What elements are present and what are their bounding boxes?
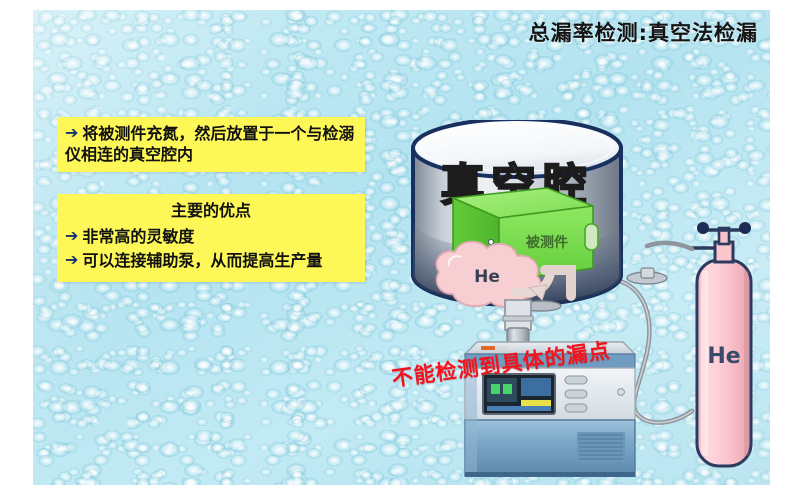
connecting-tube [503, 300, 533, 344]
advantage-text-2: 可以连接辅助泵，从而提高生产量 [82, 251, 322, 270]
arrow-right-icon: ➔ [65, 249, 78, 270]
callout-method: ➔将被测件充氮，然后放置于一个与检溺仪相连的真空腔内 [57, 117, 365, 172]
list-item: ➔可以连接辅助泵，从而提高生产量 [65, 250, 357, 271]
slide-canvas: 总漏率检测:真空法检漏 [0, 0, 800, 500]
list-item: ➔非常高的灵敏度 [65, 226, 357, 247]
detector-vent-grille [577, 432, 625, 462]
vacuum-leak-test-illustration: 真空腔 被测件 He [395, 120, 795, 480]
cylinder-label: He [707, 344, 740, 369]
detector-indicator [618, 389, 625, 396]
cylinder-valve-knob-right [739, 222, 751, 234]
arrow-right-icon: ➔ [65, 122, 78, 143]
callout-advantages: 主要的优点 ➔非常高的灵敏度 ➔可以连接辅助泵，从而提高生产量 [57, 194, 365, 282]
detector-button-3 [565, 404, 587, 412]
detector-button-2 [565, 390, 587, 398]
gas-cloud-label: He [474, 267, 500, 287]
specimen-label: 被测件 [526, 234, 568, 251]
cylinder-valve-knob-left [697, 222, 709, 234]
detector-button-1 [565, 376, 587, 384]
advantage-text-1: 非常高的灵敏度 [82, 227, 194, 246]
page-title: 总漏率检测:真空法检漏 [529, 17, 758, 47]
callout-advantages-heading: 主要的优点 [65, 200, 357, 221]
callout-method-text: 将被测件充氮，然后放置于一个与检溺仪相连的真空腔内 [65, 124, 354, 164]
arrow-right-icon: ➔ [65, 225, 78, 246]
specimen-port [585, 224, 598, 250]
